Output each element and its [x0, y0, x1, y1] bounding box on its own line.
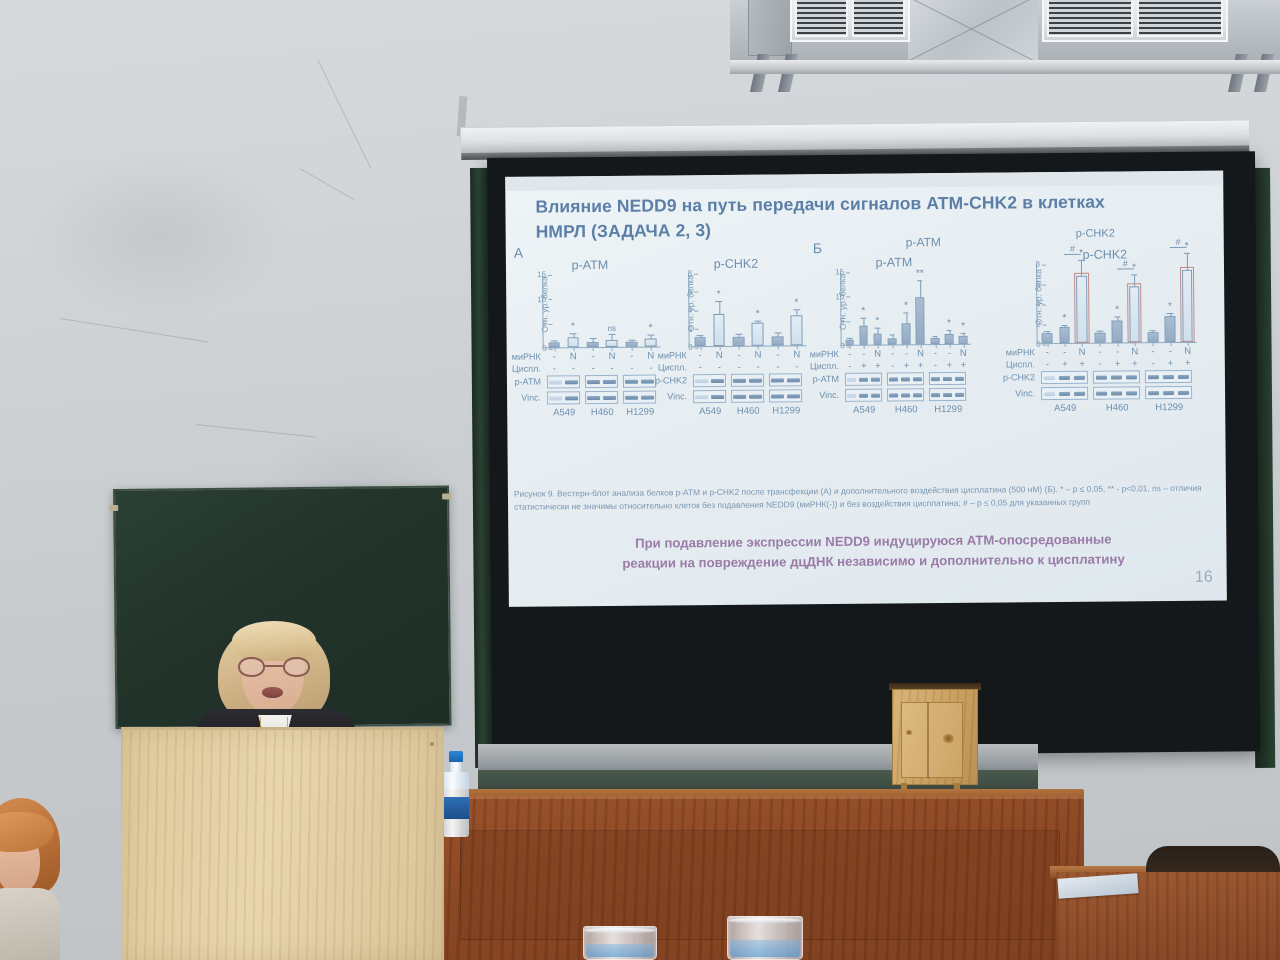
- blot-panel: [623, 391, 656, 404]
- condition-value: +: [1079, 359, 1085, 370]
- condition-value: -: [611, 363, 614, 374]
- slide-conclusion: При подавление экспрессии NEDD9 индуциру…: [548, 529, 1198, 574]
- blot-band: [1074, 391, 1085, 395]
- error-bar: [1117, 317, 1118, 320]
- condition-value: -: [891, 348, 894, 359]
- error-bar-cap: [551, 340, 558, 341]
- cell-line-label: A549: [1054, 403, 1076, 414]
- condition-value: -: [862, 349, 865, 360]
- condition-row-label: Циспл.: [1006, 359, 1039, 369]
- presentation-slide: Влияние NEDD9 на путь передачи сигналов …: [505, 171, 1227, 607]
- blot-band: [641, 395, 654, 399]
- ac-grille: [1047, 0, 1133, 37]
- blot-band: [695, 395, 708, 399]
- projection-screen: Влияние NEDD9 на путь передачи сигналов …: [487, 151, 1260, 758]
- condition-value: -: [1099, 347, 1102, 358]
- significance-marker: *: [904, 301, 908, 312]
- error-bar-cap: [1184, 253, 1190, 254]
- bar: [1042, 333, 1053, 343]
- glass-rim: [585, 928, 655, 933]
- condition-value: +: [1115, 358, 1121, 369]
- condition-value: N: [874, 349, 881, 360]
- error-bar-cap: [1097, 331, 1103, 332]
- error-bar-cap: [608, 334, 615, 335]
- plot-area: *******: [842, 271, 969, 345]
- bar: [606, 340, 618, 347]
- blot-row-label: p-CHK2: [655, 375, 691, 385]
- condition-value: -: [718, 362, 721, 373]
- bar: [772, 336, 784, 345]
- blot-band: [625, 379, 638, 383]
- blot-row-label: Vinc.: [1015, 388, 1039, 398]
- blot-panel: [769, 373, 802, 386]
- glass-rim: [729, 918, 801, 923]
- condition-row: Циспл.------: [545, 363, 659, 375]
- significance-marker: *: [861, 306, 865, 317]
- blot-panel: [693, 390, 726, 403]
- blot-band: [1178, 390, 1189, 394]
- y-tick-mark: [1043, 344, 1047, 345]
- error-bar-cap: [890, 335, 895, 336]
- blot-row: p-CHK2: [1039, 370, 1195, 386]
- blot-band: [711, 394, 724, 398]
- cabinet-door[interactable]: [901, 702, 963, 778]
- plot-area: ***: [690, 272, 805, 346]
- error-bar-cap: [715, 301, 722, 302]
- blot-panel: [929, 388, 966, 401]
- presenter-hair-front: [232, 621, 316, 661]
- blot-band: [859, 377, 868, 381]
- bottle-neck: [451, 762, 462, 772]
- condition-value: -: [572, 363, 575, 374]
- error-bar: [719, 302, 720, 314]
- condition-value: -: [756, 362, 759, 373]
- condition-value: -: [630, 363, 633, 374]
- condition-row: миРНК--N--N--N: [1039, 346, 1195, 358]
- ac-grille: [795, 0, 848, 37]
- blot-band: [1096, 375, 1107, 379]
- error-bar-cap: [847, 338, 852, 339]
- blot-band: [859, 393, 868, 397]
- glass-water: [730, 940, 800, 957]
- condition-row-label: миРНК: [1006, 347, 1039, 357]
- error-bar-cap: [904, 313, 909, 314]
- bar: [1059, 327, 1070, 343]
- blot-panel: [731, 374, 764, 387]
- condition-value: -: [848, 349, 851, 360]
- error-bar-cap: [917, 281, 922, 282]
- blot-row-label: p-CHK2: [1003, 372, 1039, 382]
- condition-value: +: [904, 360, 910, 371]
- blot-band: [787, 378, 800, 382]
- error-bar-cap: [735, 334, 742, 335]
- wooden-cabinet: [892, 683, 978, 798]
- significance-marker: *: [947, 318, 951, 329]
- condition-value: +: [875, 361, 881, 372]
- audience-member-body: [0, 888, 60, 960]
- air-conditioner-left: [790, 0, 910, 42]
- blot-band: [1126, 391, 1137, 395]
- error-bar-cap: [1078, 260, 1084, 261]
- condition-value: N: [755, 350, 762, 361]
- condition-row-label: Циспл.: [810, 361, 843, 371]
- condition-value: N: [609, 351, 616, 362]
- error-bar-cap: [754, 321, 761, 322]
- blot-band: [1111, 375, 1122, 379]
- error-bar: [1064, 325, 1065, 327]
- lecture-hall-scene: Влияние NEDD9 на путь передачи сигналов …: [0, 0, 1280, 960]
- condition-value: -: [1169, 346, 1172, 357]
- error-bar: [1047, 332, 1048, 333]
- condition-value: -: [699, 362, 702, 373]
- blot-band: [1111, 391, 1122, 395]
- error-bar: [1100, 332, 1101, 333]
- blot-band: [1074, 375, 1085, 379]
- significance-marker: *: [875, 316, 879, 327]
- significance-marker: *: [571, 321, 575, 332]
- error-bar-cap: [947, 330, 952, 331]
- cell-line-label: H1299: [934, 404, 962, 415]
- condition-row-label: миРНК: [658, 350, 691, 360]
- condition-value: -: [1151, 358, 1154, 369]
- bottle-label: [443, 797, 469, 819]
- highlight-box: [1180, 267, 1195, 342]
- condition-value: -: [591, 351, 594, 362]
- group-bracket: [1169, 247, 1186, 248]
- ac-duct: [908, 0, 1038, 62]
- highlight-box: [1074, 273, 1089, 343]
- panel-b-header-pchk2: p-CHK2: [1076, 228, 1115, 240]
- error-bar-cap: [933, 336, 938, 337]
- condition-value: +: [1132, 358, 1138, 369]
- blot-band: [889, 393, 898, 397]
- error-bar-cap: [861, 318, 866, 319]
- condition-value: -: [848, 361, 851, 372]
- significance-marker: *: [961, 320, 965, 331]
- air-conditioner-assembly: [730, 0, 1280, 94]
- blot-band: [641, 379, 654, 383]
- blot-band: [847, 393, 856, 397]
- condition-value: N: [1184, 346, 1191, 357]
- presenter: [196, 617, 356, 739]
- cell-line-label: A549: [699, 406, 721, 417]
- blot-band: [1044, 392, 1055, 396]
- blot-band: [603, 395, 616, 399]
- blot-band: [955, 392, 964, 396]
- error-bar-cap: [697, 335, 704, 336]
- error-bar: [593, 339, 594, 342]
- panel-b-tag: Б: [813, 240, 822, 256]
- condition-row-label: миРНК: [512, 352, 545, 362]
- figure-caption: Рисунок 9. Вестерн-блот анализа белков p…: [514, 482, 1220, 514]
- ac-grille: [1137, 0, 1223, 37]
- condition-value: +: [961, 360, 967, 371]
- bar: [1147, 332, 1158, 342]
- error-bar-cap: [589, 338, 596, 339]
- blot-panel: [845, 373, 882, 386]
- blot-row: p-ATM: [843, 372, 969, 388]
- bar: [567, 337, 579, 347]
- audience-member: [0, 798, 74, 960]
- condition-row: миРНК--N--N--N: [843, 348, 969, 360]
- error-bar-cap: [1167, 313, 1173, 314]
- error-bar-cap: [628, 340, 635, 341]
- blot-band: [901, 393, 910, 397]
- drinking-glass: [727, 916, 803, 960]
- blot-band: [749, 394, 762, 398]
- error-bar: [935, 337, 936, 338]
- blot-band: [1163, 375, 1174, 379]
- condition-value: N: [1131, 346, 1138, 357]
- blot-band: [1126, 375, 1137, 379]
- blot-band: [625, 395, 638, 399]
- bar: [791, 316, 803, 346]
- error-bar-cap: [1044, 331, 1050, 332]
- blot-panel: [585, 391, 618, 404]
- condition-value: -: [1151, 346, 1154, 357]
- blot-row: p-CHK2: [691, 373, 805, 389]
- condition-value: -: [776, 349, 779, 360]
- highlight-box: [1127, 283, 1142, 342]
- error-bar: [739, 335, 740, 336]
- condition-value: -: [934, 348, 937, 359]
- water-bottle: [441, 751, 471, 837]
- blot-band: [587, 380, 600, 384]
- bar: [713, 314, 725, 346]
- blot-band: [711, 378, 724, 382]
- presenter-mouth: [262, 687, 283, 698]
- blot-band: [871, 377, 880, 381]
- eyeglasses: [236, 657, 312, 677]
- bar: [645, 338, 657, 346]
- glass-water: [586, 944, 654, 957]
- bar: [733, 337, 745, 346]
- condition-value: +: [1185, 358, 1191, 369]
- error-bar-cap: [793, 309, 800, 310]
- bar: [945, 334, 954, 344]
- blot-band: [943, 392, 952, 396]
- blot-row: p-ATM: [545, 375, 659, 391]
- condition-value: -: [592, 363, 595, 374]
- condition-value: +: [1168, 358, 1174, 369]
- blot-band: [1148, 391, 1159, 395]
- y-tick-mark: [549, 348, 553, 349]
- error-bar-cap: [875, 328, 880, 329]
- error-bar-cap: [1114, 316, 1120, 317]
- condition-value: N: [570, 351, 577, 362]
- error-bar: [1170, 314, 1171, 317]
- cell-line-label: A549: [553, 407, 575, 418]
- blot-band: [901, 377, 910, 381]
- bar: [859, 326, 868, 345]
- blot-band: [1044, 376, 1055, 380]
- blot-band: [931, 377, 940, 381]
- condition-value: +: [1062, 359, 1068, 370]
- condition-value: -: [948, 348, 951, 359]
- condition-value: -: [553, 351, 556, 362]
- slide-top-band: [505, 171, 1223, 191]
- air-conditioner-right: [1042, 0, 1228, 42]
- error-bar: [651, 335, 652, 338]
- cell-line-label: H460: [895, 404, 918, 415]
- error-bar-cap: [774, 332, 781, 333]
- group-bracket-label: #: [1123, 258, 1128, 268]
- blot-panel: [731, 390, 764, 403]
- bar: [959, 335, 968, 343]
- cell-line-label: A549: [853, 405, 875, 416]
- condition-value: -: [1046, 347, 1049, 358]
- error-bar: [920, 282, 921, 298]
- cabinet-door-seam: [927, 702, 929, 778]
- blot-row: Vinc.: [691, 389, 805, 405]
- condition-value: -: [1099, 359, 1102, 370]
- bar: [873, 334, 882, 345]
- cabinet-body: [892, 689, 978, 785]
- error-bar: [892, 336, 893, 339]
- blot-band: [889, 377, 898, 381]
- blot-band: [565, 380, 578, 384]
- condition-value: -: [795, 361, 798, 372]
- condition-row: Циспл.-++-++-++: [1039, 358, 1195, 370]
- blot-band: [787, 394, 800, 398]
- condition-value: -: [934, 360, 937, 371]
- cabinet-knot: [906, 730, 912, 735]
- blot-band: [603, 379, 616, 383]
- cell-line-label: H460: [591, 407, 614, 418]
- y-tick-mark: [695, 347, 699, 348]
- condition-value: +: [861, 361, 867, 372]
- blot-band: [771, 378, 784, 382]
- error-bar: [632, 341, 633, 342]
- blot-band: [587, 396, 600, 400]
- condition-value: +: [947, 360, 953, 371]
- condition-value: -: [553, 363, 556, 374]
- cell-line-label: H460: [737, 406, 760, 417]
- blot-band: [749, 378, 762, 382]
- condition-value: -: [649, 363, 652, 374]
- wall-smudge: [30, 150, 290, 320]
- significance-marker: *: [649, 322, 653, 333]
- blot-panel: [1145, 370, 1192, 383]
- condition-value: N: [647, 351, 654, 362]
- group-bracket-label: #: [1070, 244, 1075, 254]
- group-bracket: [1064, 254, 1081, 255]
- error-bar: [878, 329, 879, 334]
- blot-panel: [1145, 386, 1192, 399]
- chart-panel-a-patm: p-ATMОтн. ур. белка051015*ns*миРНК-N-N-N…: [520, 259, 661, 348]
- condition-row: Циспл.-++-++-++: [843, 360, 969, 372]
- error-bar: [554, 341, 555, 342]
- podium-screw: [430, 742, 434, 746]
- panel-b-header-patm: p-ATM: [906, 235, 941, 249]
- ac-rail: [730, 60, 1280, 74]
- bottle-cap: [449, 751, 463, 762]
- error-bar: [612, 335, 613, 340]
- error-bar: [778, 333, 779, 336]
- condition-value: N: [960, 348, 967, 359]
- chart-panel-a-pchk2: p-CHK2Отн. ур. белка02468***миРНК-N-N-NЦ…: [666, 258, 807, 347]
- blot-panel: [693, 374, 726, 387]
- error-bar: [700, 336, 701, 337]
- error-bar: [963, 333, 964, 335]
- eyeglass-lens-right: [283, 657, 310, 677]
- ac-grille: [852, 0, 905, 37]
- cell-line-label: H1299: [1155, 402, 1183, 413]
- bar: [752, 322, 764, 345]
- blot-band: [549, 396, 562, 400]
- blot-band: [1059, 375, 1070, 379]
- blot-band: [847, 377, 856, 381]
- condition-value: +: [918, 360, 924, 371]
- blot-row: Vinc.: [545, 391, 659, 407]
- cell-line-label: H1299: [772, 405, 800, 416]
- condition-value: N: [917, 348, 924, 359]
- condition-row: миРНК-N-N-N: [691, 349, 805, 361]
- error-bar-cap: [961, 332, 966, 333]
- podium: [121, 727, 444, 960]
- blot-band: [955, 376, 964, 380]
- bar: [694, 337, 706, 346]
- slide-number: 16: [1195, 569, 1213, 587]
- blot-band: [771, 394, 784, 398]
- blot-band: [1163, 391, 1174, 395]
- bar: [916, 297, 925, 344]
- error-bar: [906, 314, 907, 324]
- blot-band: [871, 393, 880, 397]
- blot-row-label: Vinc.: [521, 393, 545, 403]
- ac-side-shell: [748, 0, 792, 56]
- condition-value: -: [891, 360, 894, 371]
- error-bar-cap: [1131, 274, 1137, 275]
- blot-row-label: p-ATM: [813, 374, 843, 384]
- blot-row-label: p-ATM: [515, 377, 545, 387]
- blot-panel: [1093, 386, 1140, 399]
- error-bar: [796, 310, 797, 316]
- blot-panel: [1041, 371, 1088, 384]
- blot-panel: [887, 372, 924, 385]
- significance-marker: *: [756, 309, 760, 320]
- blot-band: [549, 380, 562, 384]
- error-bar-cap: [1061, 324, 1067, 325]
- condition-value: N: [1079, 347, 1086, 358]
- blot-band: [733, 394, 746, 398]
- error-bar: [573, 334, 574, 337]
- condition-value: -: [737, 362, 740, 373]
- condition-value: -: [776, 361, 779, 372]
- blot-band: [733, 378, 746, 382]
- bar: [1095, 333, 1106, 343]
- plot-area: ******###: [1038, 263, 1195, 343]
- cell-line-label: H1299: [626, 407, 654, 418]
- error-bar-cap: [1150, 330, 1156, 331]
- cell-line-label: H460: [1106, 402, 1129, 413]
- eyeglass-bridge: [265, 665, 283, 667]
- condition-row-label: миРНК: [810, 349, 843, 359]
- chart-title: p-CHK2: [1014, 247, 1196, 263]
- blot-band: [695, 379, 708, 383]
- blot-band: [943, 376, 952, 380]
- condition-value: -: [737, 350, 740, 361]
- error-bar: [949, 331, 950, 333]
- blot-panel: [547, 391, 580, 404]
- group-bracket-label: #: [1175, 237, 1180, 247]
- blot-row: Vinc.: [1039, 386, 1195, 402]
- blot-panel: [769, 389, 802, 402]
- plot-area: *ns*: [544, 274, 659, 348]
- condition-row-label: Циспл.: [512, 364, 545, 374]
- chart-panel-b-pchk2: p-CHK2Отн. ур. белка02468******###миРНК-…: [1014, 249, 1197, 345]
- blot-band: [913, 393, 922, 397]
